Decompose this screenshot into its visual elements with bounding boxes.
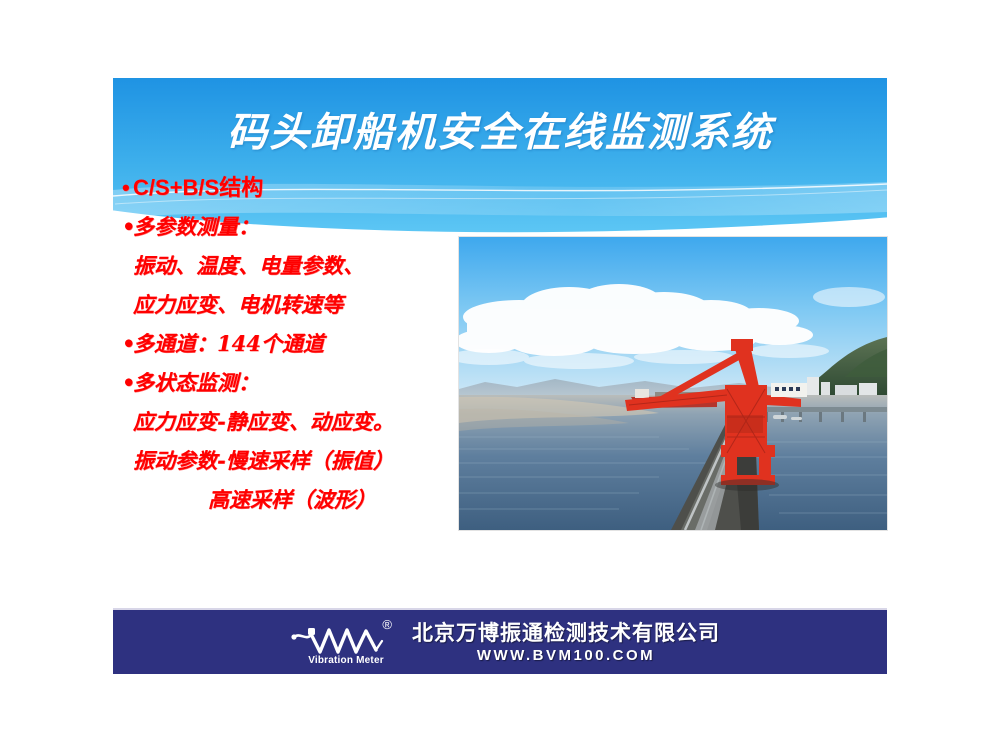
list-item-label: 应力应变-静应变、动应变。 [133,409,394,434]
bullet-marker: • [122,207,133,246]
footer-content: ® Vibration Meter 北京万博振通检测技术有限公司 WWW.BVM… [290,619,720,665]
list-item-label: 振动、温度、电量参数、 [133,253,364,278]
vibration-waveform-logo: ® Vibration Meter [290,619,398,665]
company-url: WWW.BVM100.COM [477,648,655,663]
list-item: 振动、温度、电量参数、 [122,246,472,285]
list-item: •多参数测量： [122,207,472,246]
list-item: •多状态监测： [122,363,472,402]
list-item: 应力应变、电机转速等 [122,285,472,324]
footer-bar: ® Vibration Meter 北京万博振通检测技术有限公司 WWW.BVM… [113,608,887,674]
bullet-marker: • [122,363,133,402]
list-item-label: 高速采样（波形） [208,487,376,512]
bullet-list: •C/S+B/S结构 •多参数测量： 振动、温度、电量参数、 应力应变、电机转速… [122,168,472,519]
list-item-label: 振动参数-慢速采样（振值） [133,448,394,473]
list-item: •C/S+B/S结构 [122,168,472,207]
list-item: •多通道：144个通道 [122,324,472,363]
list-item-label: 多通道：144个通道 [133,331,324,356]
company-name: 北京万博振通检测技术有限公司 [412,622,720,643]
registered-trademark-icon: ® [382,618,392,631]
list-item: 振动参数-慢速采样（振值） [122,441,472,480]
company-block: 北京万博振通检测技术有限公司 WWW.BVM100.COM [412,622,720,663]
list-item: 高速采样（波形） [122,480,472,519]
presentation-slide: 码头卸船机安全在线监测系统 •C/S+B/S结构 •多参数测量： 振动、温度、电… [0,0,1000,750]
bullet-marker: • [122,168,133,207]
list-item: 应力应变-静应变、动应变。 [122,402,472,441]
bullet-marker: • [122,324,133,363]
list-item-label: 应力应变、电机转速等 [133,292,343,317]
list-item-label: C/S+B/S结构 [133,175,263,200]
port-unloader-photo [459,237,887,530]
list-item-label: 多参数测量： [133,214,259,239]
page-title: 码头卸船机安全在线监测系统 [113,100,887,158]
port-unloader-photo-graphic [459,237,887,530]
list-item-label: 多状态监测： [133,370,259,395]
logo-subtitle: Vibration Meter [294,655,398,666]
